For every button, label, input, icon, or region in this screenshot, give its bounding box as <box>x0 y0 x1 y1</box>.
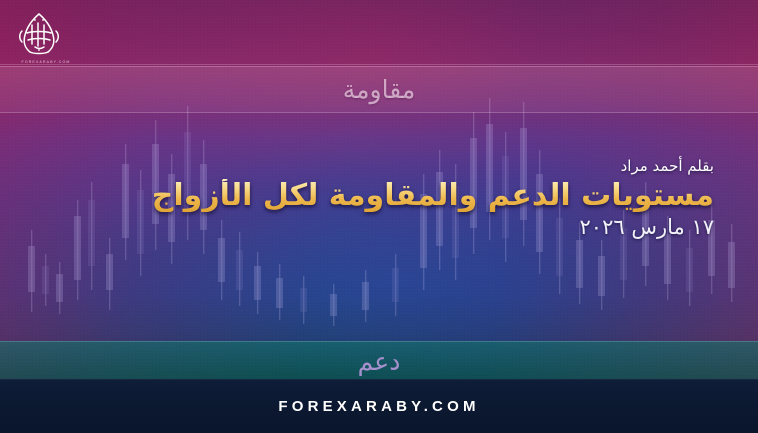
forexaraby-logo-icon[interactable]: FOREXARABY.COM <box>8 11 70 59</box>
article-date: ١٧ مارس ٢٠٢٦ <box>54 215 714 239</box>
article-text-block: بقلم أحمد مراد مستويات الدعم والمقاومة ل… <box>54 158 714 239</box>
article-byline: بقلم أحمد مراد <box>54 158 714 175</box>
logo-url-text: FOREXARABY.COM <box>14 60 78 64</box>
footer-site-name[interactable]: FOREXARABY.COM <box>278 398 479 415</box>
poster-canvas: مقاومة دعم <box>0 0 758 433</box>
footer-bar: FOREXARABY.COM <box>0 379 758 433</box>
article-headline: مستويات الدعم والمقاومة لكل الأزواج <box>54 179 714 213</box>
